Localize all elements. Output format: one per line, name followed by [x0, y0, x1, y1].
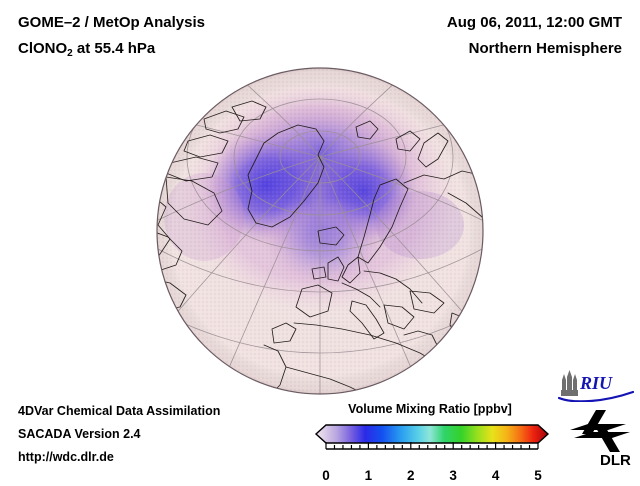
version-label: SACADA Version 2.4: [18, 423, 318, 446]
globe-map: [152, 67, 488, 395]
riu-tower-icon: [561, 370, 578, 396]
colorbar: Volume Mixing Ratio [ppbv] 012345: [310, 400, 550, 486]
orthographic-globe-svg: [152, 67, 488, 395]
colorbar-tick-label: 0: [322, 468, 330, 483]
colorbar-tick-labels: 012345: [310, 468, 550, 486]
method-label: 4DVar Chemical Data Assimilation: [18, 400, 318, 423]
header-left-block: GOME–2 / MetOp Analysis ClONO2 at 55.4 h…: [18, 10, 348, 64]
colorbar-tick-label: 4: [492, 468, 500, 483]
pressure-level-label: at 55.4 hPa: [73, 40, 156, 57]
colorbar-scale: [310, 423, 550, 467]
hemisphere-label: Northern Hemisphere: [342, 36, 622, 62]
riu-logo-svg: RIU: [558, 368, 634, 402]
dlr-pinwheel-icon: [570, 410, 630, 452]
footer-left-block: 4DVar Chemical Data Assimilation SACADA …: [18, 400, 318, 469]
dlr-logo: DLR: [566, 408, 636, 470]
colorbar-svg: [310, 423, 550, 467]
riu-wordmark: RIU: [579, 373, 613, 393]
header-right-block: Aug 06, 2011, 12:00 GMT Northern Hemisph…: [342, 10, 622, 62]
colorbar-tick-label: 2: [407, 468, 415, 483]
dlr-wordmark: DLR: [600, 452, 631, 469]
species-label: ClONO: [18, 40, 67, 57]
colorbar-tick-label: 1: [365, 468, 373, 483]
colorbar-tick-label: 5: [534, 468, 542, 483]
website-url[interactable]: http://wdc.dlr.de: [18, 446, 318, 469]
page-title: GOME–2 / MetOp Analysis: [18, 10, 348, 36]
timestamp-label: Aug 06, 2011, 12:00 GMT: [342, 10, 622, 36]
dlr-logo-svg: DLR: [566, 408, 636, 470]
riu-logo: RIU: [558, 368, 634, 402]
colorbar-tick-label: 3: [449, 468, 457, 483]
colorbar-title: Volume Mixing Ratio [ppbv]: [310, 400, 550, 418]
species-level-subtitle: ClONO2 at 55.4 hPa: [18, 36, 348, 64]
species-subscript: 2: [67, 48, 73, 59]
